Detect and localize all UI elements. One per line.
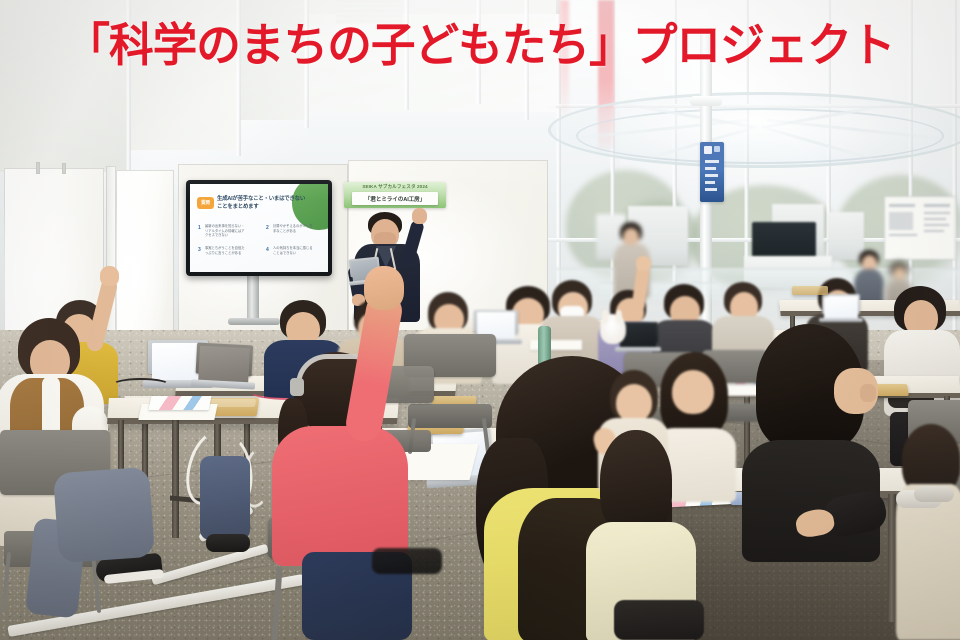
child-right-edge (896, 424, 960, 640)
woman-black-jacket (738, 324, 888, 564)
blue-hanging-sign (700, 142, 724, 202)
photo-scene: 質問 生成AIが苦手なこと・いまはできないことをまとめます 1 最新の出来事を知… (0, 0, 960, 640)
child-raised-hand-front (272, 352, 422, 640)
presentation-screen: 質問 生成AIが苦手なこと・いまはできないことをまとめます 1 最新の出来事を知… (186, 180, 332, 276)
slide-badge: 質問 (197, 197, 214, 209)
partition-clip (62, 163, 66, 174)
slide-item-text: 計算やかぞえるのが少し苦手なことがある (273, 224, 314, 233)
bag (614, 600, 704, 640)
slide-item-text: 事実とちがうことを自信たっぷりに言うことがある (205, 246, 246, 255)
slide-item-text: 最新の出来事を知らない・リアルタイムの情報にはアクセスできない (205, 224, 246, 238)
background-monitor (752, 222, 816, 258)
slide-badge-label: 質問 (197, 197, 214, 209)
slide-item-num: 4 (266, 247, 269, 253)
slide-heading: 生成AIが苦手なこと・いまはできないことをまとめます (217, 195, 306, 211)
page-title: 「科学のまちの子どもたち」プロジェクト (14, 16, 945, 74)
partition-clip (36, 162, 40, 174)
slide-item-num: 3 (198, 247, 201, 253)
event-banner: SEIKA サブカルフェスタ 2024 「君とミライのAI工房」 (344, 182, 446, 208)
atrium-canopy (548, 92, 960, 170)
laptop (822, 294, 860, 322)
leg-jeans (53, 467, 155, 563)
workshop-title-label: 「君とミライのAI工房」 (365, 195, 425, 203)
workshop-title-box: 「君とミライのAI工房」 (352, 192, 438, 205)
shoe (914, 486, 954, 502)
slide-item-num: 2 (266, 225, 269, 231)
slide: 質問 生成AIが苦手なこと・いまはできないことをまとめます 1 最新の出来事を知… (190, 184, 328, 272)
slide-item-text: 人の気持ちを本当に感じることはできない (273, 246, 314, 255)
canopy-cap (690, 96, 722, 106)
wooden-kit-box (792, 286, 828, 295)
slide-item-num: 1 (198, 225, 201, 231)
tv-stand-pole (247, 276, 259, 322)
poster-panel (884, 196, 956, 260)
bag (372, 548, 442, 574)
event-banner-label: SEIKA サブカルフェスタ 2024 (344, 184, 446, 190)
leg-jeans (200, 456, 250, 540)
shoe (206, 534, 250, 552)
